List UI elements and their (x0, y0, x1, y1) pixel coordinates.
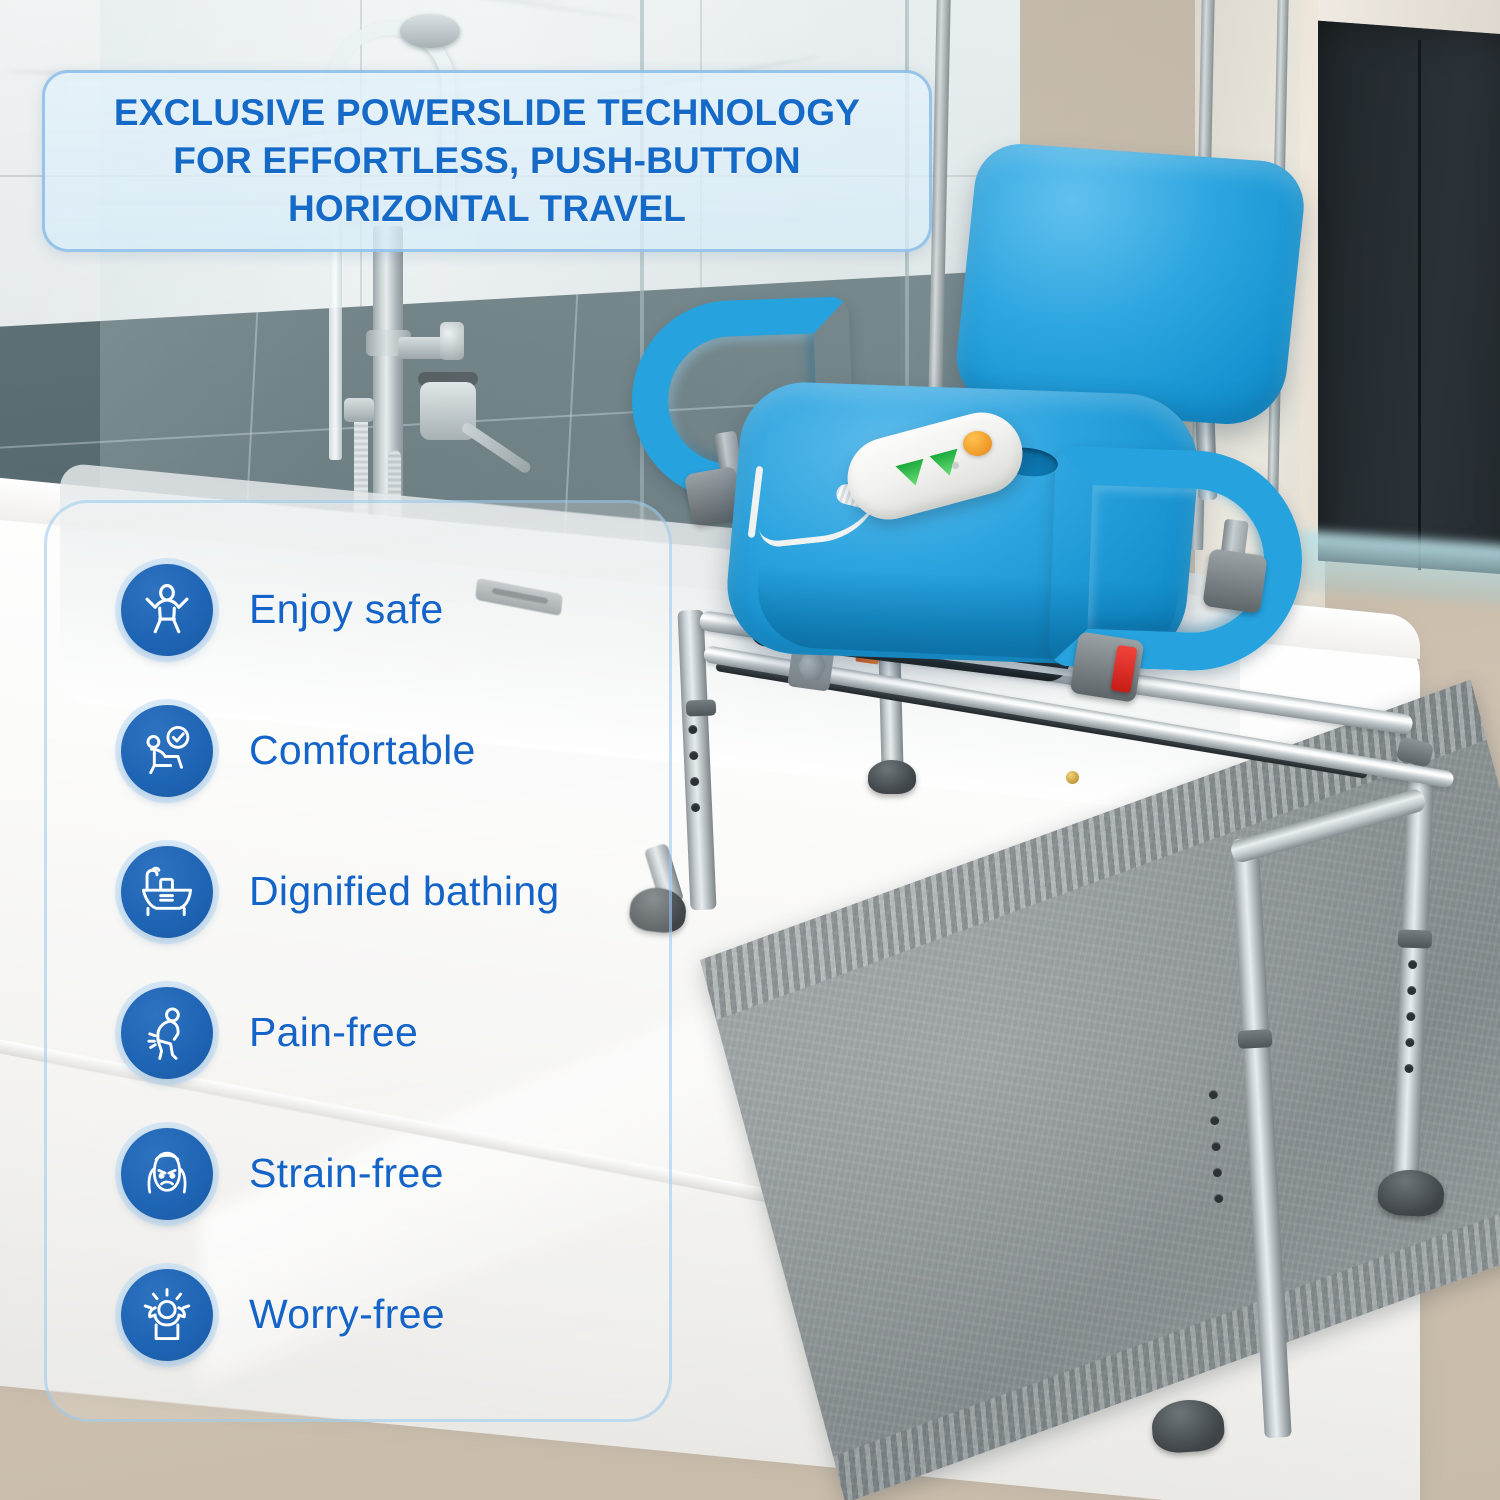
feature-item-worry-free: Worry-free (47, 1244, 669, 1385)
bench-leg (878, 650, 903, 771)
feature-item-pain-free: Pain-free (47, 962, 669, 1103)
orange-power-button[interactable] (963, 431, 992, 456)
leg-collar (1238, 1029, 1273, 1049)
back-pain-person-icon (121, 987, 213, 1079)
feature-label: Enjoy safe (249, 586, 443, 633)
feature-label: Worry-free (249, 1291, 445, 1338)
product-marketing-image: EXCLUSIVE POWERSLIDE TECHNOLOGY FOR EFFO… (0, 0, 1500, 1500)
backrest-cushion (952, 141, 1309, 428)
feature-item-strain-free: Strain-free (47, 1103, 669, 1244)
stressed-woman-icon (121, 1128, 213, 1220)
remote-indicator-dot (952, 462, 959, 469)
feature-item-dignified-bathing: Dignified bathing (47, 821, 669, 962)
hose-connector (344, 398, 374, 422)
feature-label: Strain-free (249, 1150, 444, 1197)
bench-foot (868, 760, 916, 794)
bathtub-icon (121, 846, 213, 938)
leg-collar (686, 699, 717, 716)
feature-item-comfortable: Comfortable (47, 680, 669, 821)
person-arms-raised-icon (121, 564, 213, 656)
feature-list-panel: Enjoy safe Comfortable (44, 500, 672, 1422)
headline-text: EXCLUSIVE POWERSLIDE TECHNOLOGY FOR EFFO… (92, 89, 882, 233)
feature-label: Pain-free (249, 1009, 418, 1056)
shower-head-icon (400, 14, 460, 48)
leg-collar (1398, 929, 1433, 948)
cabinet-door-seam (1418, 40, 1421, 570)
seated-person-check-icon (121, 705, 213, 797)
brass-pin (1066, 771, 1079, 784)
headline-banner: EXCLUSIVE POWERSLIDE TECHNOLOGY FOR EFFO… (42, 70, 932, 252)
diverter-knob (440, 322, 464, 360)
person-holding-head-icon (121, 1269, 213, 1361)
feature-label: Comfortable (249, 727, 476, 774)
armrest-mount (1202, 548, 1268, 614)
feature-label: Dignified bathing (249, 868, 560, 915)
feature-item-enjoy-safe: Enjoy safe (47, 539, 669, 680)
dark-vanity-cabinet (1318, 21, 1500, 576)
